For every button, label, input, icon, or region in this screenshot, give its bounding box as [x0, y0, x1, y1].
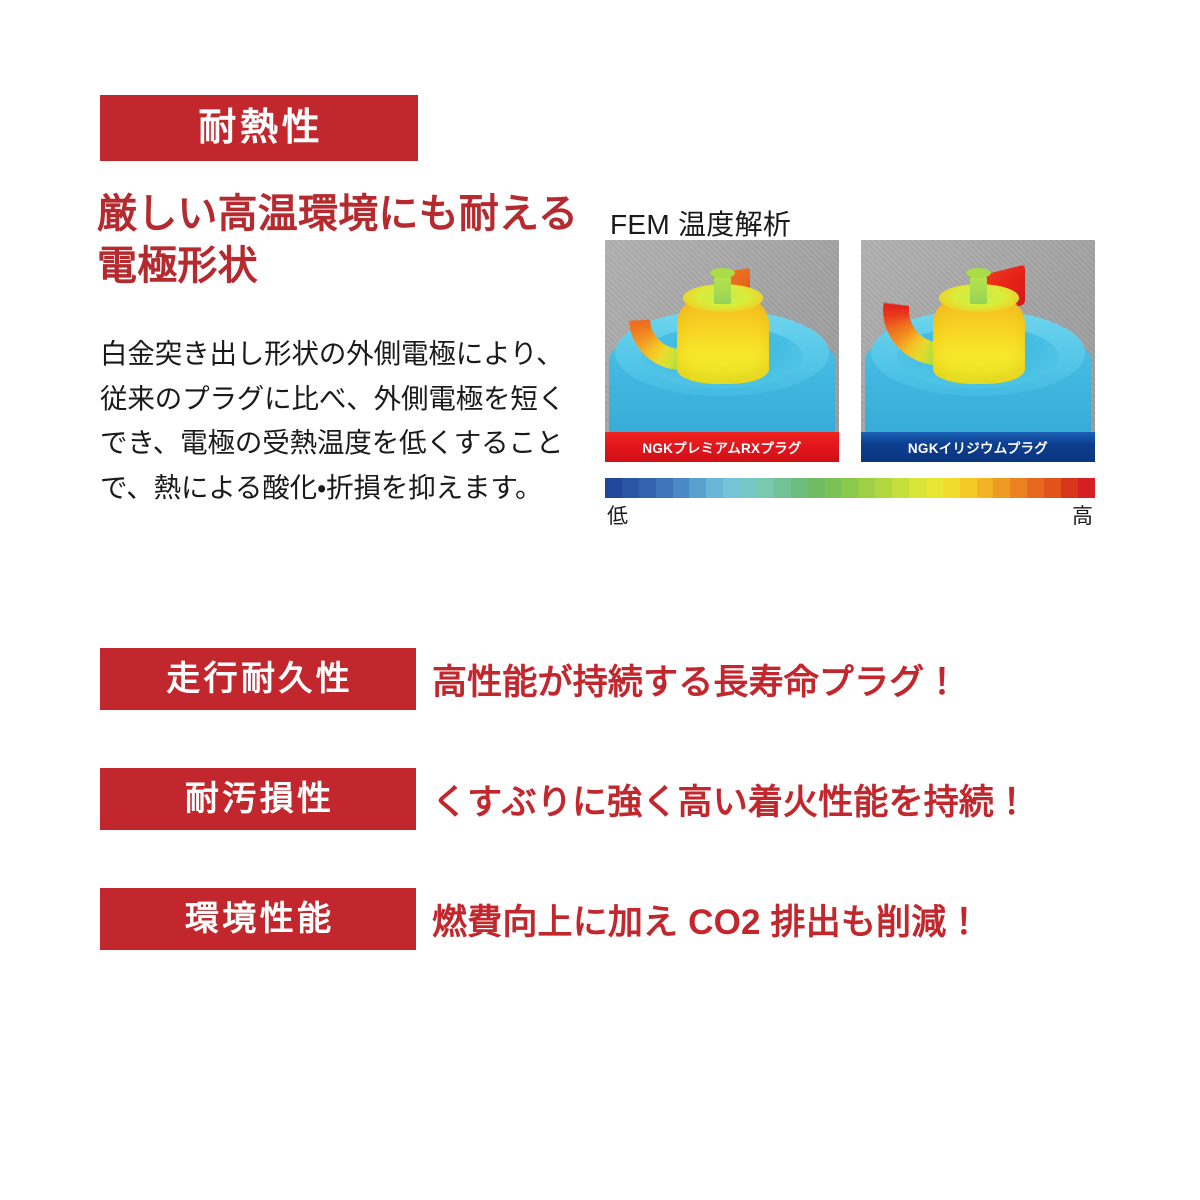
- body-line-3: でき、電極の受熱温度を低くすること: [100, 421, 586, 466]
- scale-segment-18: [909, 478, 926, 498]
- scale-segment-17: [892, 478, 909, 498]
- headline-line-2: 電極形状: [97, 240, 597, 292]
- scale-segment-9: [757, 478, 774, 498]
- body-line-1: 白金突き出し形状の外側電極により、: [100, 332, 586, 377]
- feature-badge-fouling-resistance: 耐汚損性: [100, 768, 416, 830]
- scale-segment-28: [1078, 478, 1095, 498]
- feature-text-fouling-resistance: くすぶりに強く高い着火性能を持続！: [432, 770, 1029, 828]
- heat-resistance-body-copy: 白金突き出し形状の外側電極により、 従来のプラグに比べ、外側電極を短く でき、電…: [100, 332, 586, 510]
- fem-caption-iridium: NGKイリジウムプラグ: [861, 432, 1095, 462]
- scale-segment-21: [960, 478, 977, 498]
- scale-segment-3: [656, 478, 673, 498]
- temperature-scale-labels: 低 高: [605, 500, 1095, 530]
- scale-segment-22: [977, 478, 994, 498]
- scale-segment-6: [706, 478, 723, 498]
- feature-badge-environmental: 環境性能: [100, 888, 416, 950]
- fem-simulation-iridium: NGKイリジウムプラグ: [861, 240, 1095, 462]
- scale-segment-23: [993, 478, 1010, 498]
- temperature-scale-bar: [605, 478, 1095, 498]
- scale-segment-4: [673, 478, 690, 498]
- scale-label-high: 高: [1072, 500, 1093, 530]
- scale-segment-15: [858, 478, 875, 498]
- scale-segment-11: [791, 478, 808, 498]
- scale-segment-16: [875, 478, 892, 498]
- center-electrode-rx: [714, 274, 731, 304]
- center-electrode-cap-rx: [710, 268, 735, 278]
- temperature-scale: 低 高: [605, 478, 1095, 530]
- body-line-2: 従来のプラグに比べ、外側電極を短く: [100, 377, 586, 422]
- fem-analysis-panel: NGKプレミアムRXプラグ NGKイリジウムプラグ 低 高: [605, 240, 1095, 535]
- feature-badge-durability: 走行耐久性: [100, 648, 416, 710]
- scale-segment-1: [622, 478, 639, 498]
- scale-segment-14: [841, 478, 858, 498]
- fem-simulation-premium-rx: NGKプレミアムRXプラグ: [605, 240, 839, 462]
- headline-line-1: 厳しい高温環境にも耐える: [97, 188, 597, 240]
- scale-segment-2: [639, 478, 656, 498]
- scale-segment-25: [1027, 478, 1044, 498]
- body-line-4: で、熱による酸化・折損を抑えます。: [100, 466, 586, 511]
- center-electrode-iridium: [970, 274, 987, 304]
- scale-segment-27: [1061, 478, 1078, 498]
- feature-text-environmental: 燃費向上に加え CO2 排出も削減！: [432, 890, 982, 948]
- scale-label-low: 低: [607, 500, 628, 530]
- section-badge-heat-resistance: 耐熱性: [100, 95, 418, 161]
- scale-segment-13: [825, 478, 842, 498]
- scale-segment-24: [1010, 478, 1027, 498]
- scale-segment-5: [689, 478, 706, 498]
- fem-caption-premium-rx: NGKプレミアムRXプラグ: [605, 432, 839, 462]
- feature-text-durability: 高性能が持続する長寿命プラグ！: [432, 650, 960, 708]
- scale-segment-7: [723, 478, 740, 498]
- scale-segment-8: [740, 478, 757, 498]
- heat-resistance-headline: 厳しい高温環境にも耐える 電極形状: [97, 188, 597, 292]
- scale-segment-10: [774, 478, 791, 498]
- scale-segment-19: [926, 478, 943, 498]
- center-electrode-cap-iridium: [966, 268, 991, 278]
- fem-analysis-title: FEM 温度解析: [610, 203, 791, 243]
- scale-segment-0: [605, 478, 622, 498]
- scale-segment-20: [943, 478, 960, 498]
- scale-segment-26: [1044, 478, 1061, 498]
- scale-segment-12: [808, 478, 825, 498]
